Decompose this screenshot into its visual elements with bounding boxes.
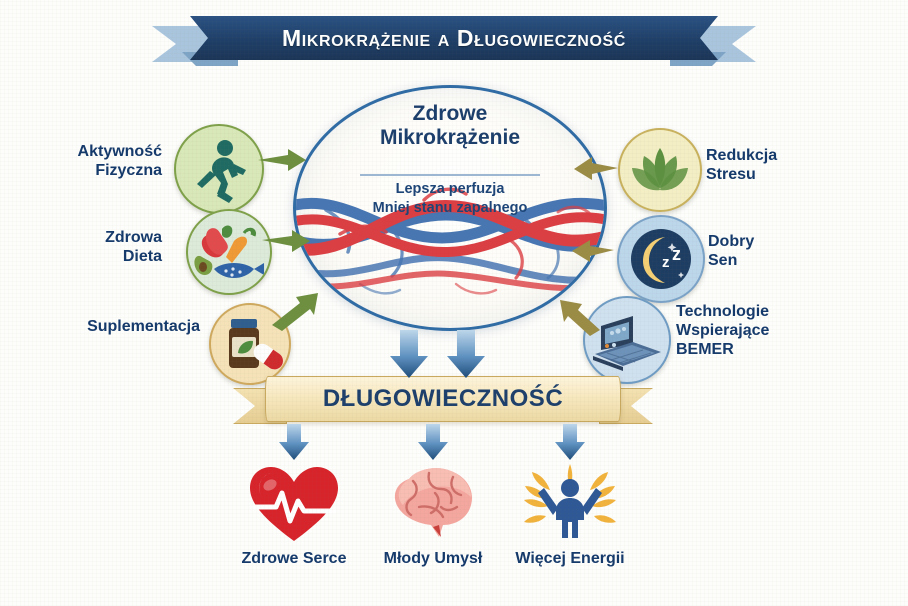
heart-ecg-icon (224, 462, 364, 546)
title-ribbon: Mikrokrążenie a Długowieczność (152, 12, 756, 64)
factor-label-stress-reduction: Redukcja Stresu (706, 146, 876, 184)
factor-label-good-sleep: Dobry Sen (708, 232, 878, 270)
hub-title-line1: Zdrowe (296, 102, 604, 126)
infographic-canvas: Mikrokrążenie a Długowieczność (0, 0, 908, 606)
label-line-2: Dieta (46, 247, 162, 266)
label-line-1: Aktywność (40, 142, 162, 161)
outcome-label-healthy-heart: Zdrowe Serce (224, 550, 364, 568)
longevity-label: DŁUGOWIECZNOŚĆ (323, 385, 563, 413)
hub-subtitle-line1: Lepsza perfuzja (296, 180, 604, 199)
hub-divider (360, 174, 540, 176)
longevity-ribbon-body: DŁUGOWIECZNOŚĆ (265, 376, 621, 422)
hub-subtitle-line2: Mniej stanu zapalnego (296, 199, 604, 218)
arrow-longevity-to-heart (279, 424, 309, 460)
arrow-hub-to-longevity-left (390, 330, 428, 378)
hub-title: Zdrowe Mikrokrążenie (296, 102, 604, 149)
arrow-longevity-to-brain (418, 424, 448, 460)
label-line-3: BEMER (676, 340, 876, 359)
healthy-food-icon (186, 209, 272, 295)
outcome-more-energy[interactable]: Więcej Energii (500, 462, 640, 568)
arrow-longevity-to-energy (555, 424, 585, 460)
label-line-1: Technologie (676, 302, 876, 321)
running-person-icon (174, 124, 264, 214)
label-line-2: Sen (708, 251, 878, 270)
moon-sleep-icon: z z (617, 215, 705, 303)
factor-label-supporting-technology: Technologie Wspierające BEMER (676, 302, 876, 360)
label-line-1: Zdrowa (46, 228, 162, 247)
label-line-1: Redukcja (706, 146, 876, 165)
arrow-hub-to-longevity-right (447, 330, 485, 378)
factor-label-supplementation: Suplementacja (60, 317, 200, 336)
supplements-icon (209, 303, 291, 385)
factor-label-physical-activity: Aktywność Fizyczna (40, 142, 162, 180)
hub-title-line2: Mikrokrążenie (296, 126, 604, 150)
label-line-1: Dobry (708, 232, 878, 251)
label-line-2: Stresu (706, 165, 876, 184)
factor-label-healthy-diet: Zdrowa Dieta (46, 228, 162, 266)
outcome-label-more-energy: Więcej Energii (500, 550, 640, 568)
label-line-2: Fizyczna (40, 161, 162, 180)
outcome-healthy-heart[interactable]: Zdrowe Serce (224, 462, 364, 568)
lotus-icon (618, 128, 702, 212)
label-line-2: Wspierające (676, 321, 876, 340)
outcome-label-young-mind: Młody Umysł (363, 550, 503, 568)
title-ribbon-body: Mikrokrążenie a Długowieczność (190, 16, 718, 60)
svg-text:z: z (662, 254, 670, 271)
page-title: Mikrokrążenie a Długowieczność (282, 25, 626, 52)
outcome-young-mind[interactable]: Młody Umysł (363, 462, 503, 568)
hub-subtitle: Lepsza perfuzja Mniej stanu zapalnego (296, 180, 604, 218)
energetic-person-icon (500, 462, 640, 546)
brain-icon (363, 462, 503, 546)
longevity-ribbon: DŁUGOWIECZNOŚĆ (233, 376, 653, 426)
central-circulation-hub: Zdrowe Mikrokrążenie Lepsza perfuzja Mni… (293, 85, 607, 331)
label-line-1: Suplementacja (60, 317, 200, 336)
